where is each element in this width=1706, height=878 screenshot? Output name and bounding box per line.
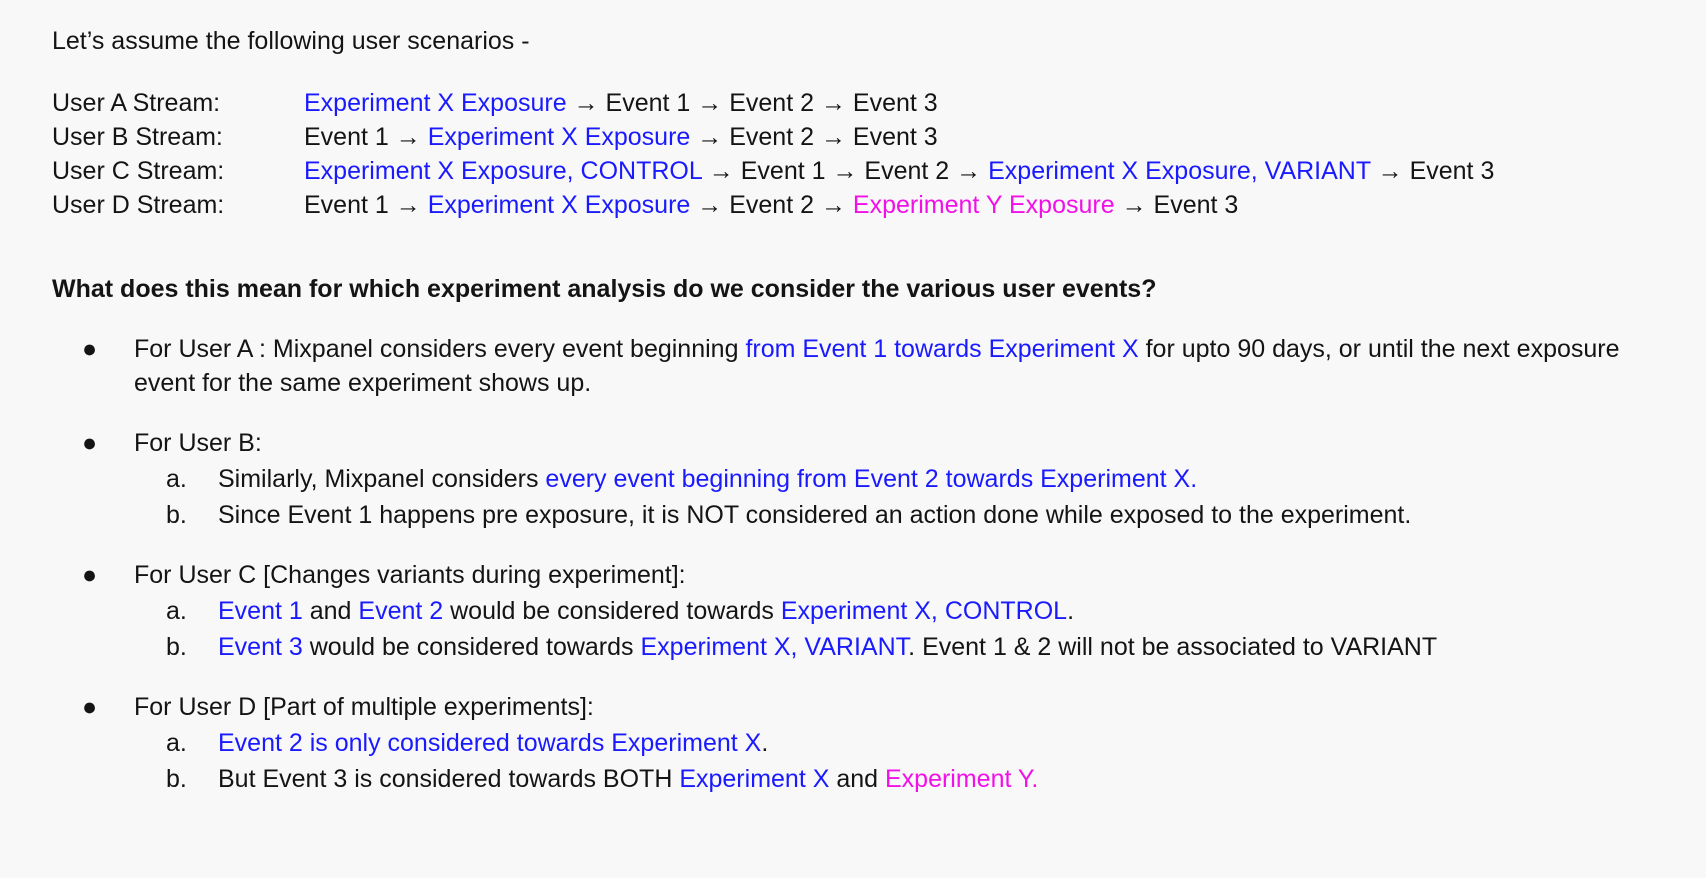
- stream-2-segment-0: Experiment X Exposure, CONTROL: [304, 157, 702, 185]
- stream-0-segment-6: Event 3: [853, 89, 938, 117]
- user-stream-flow: Experiment X Exposure, CONTROL → Event 1…: [304, 154, 1494, 188]
- bullet-0-segment-0: For User A : Mixpanel considers every ev…: [134, 335, 745, 363]
- bullet-3-segment-0: For User D [Part of multiple experiments…: [134, 693, 594, 721]
- question-heading: What does this mean for which experiment…: [52, 272, 1156, 306]
- sub-list-text: Event 1 and Event 2 would be considered …: [218, 594, 1672, 628]
- bullet-text: For User B:: [134, 426, 1672, 460]
- bullet-2-sub-1-segment-0: Event 3: [218, 633, 303, 661]
- bullet-2-sub-0-segment-4: Experiment X, CONTROL: [781, 597, 1067, 625]
- sub-list: a.Similarly, Mixpanel considers every ev…: [134, 462, 1672, 532]
- sub-list-text: Similarly, Mixpanel considers every even…: [218, 462, 1672, 496]
- user-stream-flow: Experiment X Exposure → Event 1 → Event …: [304, 86, 938, 120]
- bullet-2-sub-0-segment-0: Event 1: [218, 597, 303, 625]
- bullet-1-sub-1-segment-0: Since Event 1 happens pre exposure, it i…: [218, 501, 1411, 529]
- stream-2-segment-1: →: [702, 157, 741, 185]
- bullet-2-segment-0: For User C [Changes variants during expe…: [134, 561, 686, 589]
- stream-0-segment-5: →: [814, 89, 853, 117]
- stream-2-segment-8: Event 3: [1410, 157, 1495, 185]
- stream-1-segment-0: Event 1: [304, 123, 389, 151]
- bullet-3-sub-0-segment-0: Event 2 is only considered towards Exper…: [218, 729, 761, 757]
- sub-list: a.Event 1 and Event 2 would be considere…: [134, 594, 1672, 664]
- bullet-3-sub-1-segment-3: Experiment Y.: [885, 765, 1038, 793]
- stream-3-segment-8: Event 3: [1154, 191, 1239, 219]
- stream-3-segment-0: Event 1: [304, 191, 389, 219]
- bullet-2-sub-1-segment-3: . Event 1 & 2 will not be associated to …: [908, 633, 1437, 661]
- stream-0-segment-1: →: [567, 89, 606, 117]
- stream-1-segment-3: →: [690, 123, 729, 151]
- stream-1-segment-5: →: [814, 123, 853, 151]
- stream-3-segment-3: →: [690, 191, 729, 219]
- sub-list-text: Event 2 is only considered towards Exper…: [218, 726, 1672, 760]
- stream-3-segment-7: →: [1115, 191, 1154, 219]
- bullet-2-sub-0-segment-2: Event 2: [358, 597, 443, 625]
- sub-list-text: Event 3 would be considered towards Expe…: [218, 630, 1672, 664]
- bullet-list: ●For User A : Mixpanel considers every e…: [52, 332, 1672, 796]
- stream-0-segment-4: Event 2: [729, 89, 814, 117]
- user-stream-label: User D Stream:: [52, 188, 304, 222]
- bullet-text: For User C [Changes variants during expe…: [134, 558, 1672, 592]
- stream-1-segment-4: Event 2: [729, 123, 814, 151]
- sub-list-marker: b.: [134, 630, 218, 664]
- user-stream-label: User A Stream:: [52, 86, 304, 120]
- user-stream-row: User B Stream:Event 1 → Experiment X Exp…: [52, 120, 1494, 154]
- stream-2-segment-2: Event 1: [741, 157, 826, 185]
- stream-2-segment-5: →: [949, 157, 988, 185]
- bullet-1-sub-0-segment-0: Similarly, Mixpanel considers: [218, 465, 545, 493]
- stream-0-segment-2: Event 1: [606, 89, 691, 117]
- sub-list-marker: b.: [134, 762, 218, 796]
- stream-3-segment-1: →: [389, 191, 428, 219]
- stream-1-segment-2: Experiment X Exposure: [428, 123, 691, 151]
- list-item: ●For User D [Part of multiple experiment…: [52, 690, 1672, 724]
- sub-list-text: Since Event 1 happens pre exposure, it i…: [218, 498, 1672, 532]
- sub-list: a.Event 2 is only considered towards Exp…: [134, 726, 1672, 796]
- user-stream-row: User C Stream:Experiment X Exposure, CON…: [52, 154, 1494, 188]
- stream-2-segment-7: →: [1371, 157, 1410, 185]
- bullet-3-sub-0-segment-1: .: [761, 729, 768, 757]
- sub-list-item: b.Event 3 would be considered towards Ex…: [134, 630, 1672, 664]
- sub-list-item: a.Event 2 is only considered towards Exp…: [134, 726, 1672, 760]
- bullet-block: ●For User B:a.Similarly, Mixpanel consid…: [52, 426, 1672, 532]
- bullet-marker-icon: ●: [52, 426, 134, 460]
- sub-list-marker: b.: [134, 498, 218, 532]
- bullet-3-sub-1-segment-2: and: [829, 765, 885, 793]
- intro-line: Let’s assume the following user scenario…: [52, 24, 530, 58]
- stream-1-segment-1: →: [389, 123, 428, 151]
- sub-list-item: a.Event 1 and Event 2 would be considere…: [134, 594, 1672, 628]
- bullet-3-sub-1-segment-0: But Event 3 is considered towards BOTH: [218, 765, 679, 793]
- bullet-marker-icon: ●: [52, 332, 134, 366]
- stream-2-segment-6: Experiment X Exposure, VARIANT: [988, 157, 1371, 185]
- bullet-2-sub-1-segment-1: would be considered towards: [303, 633, 641, 661]
- bullet-2-sub-0-segment-3: would be considered towards: [443, 597, 781, 625]
- user-stream-label: User B Stream:: [52, 120, 304, 154]
- user-stream-row: User D Stream:Event 1 → Experiment X Exp…: [52, 188, 1494, 222]
- bullet-1-segment-0: For User B:: [134, 429, 262, 457]
- user-stream-row: User A Stream:Experiment X Exposure → Ev…: [52, 86, 1494, 120]
- bullet-2-sub-1-segment-2: Experiment X, VARIANT: [640, 633, 908, 661]
- user-stream-list: User A Stream:Experiment X Exposure → Ev…: [52, 86, 1494, 222]
- bullet-2-sub-0-segment-5: .: [1067, 597, 1074, 625]
- bullet-text: For User D [Part of multiple experiments…: [134, 690, 1672, 724]
- stream-0-segment-3: →: [690, 89, 729, 117]
- stream-2-segment-4: Event 2: [864, 157, 949, 185]
- bullet-2-sub-0-segment-1: and: [303, 597, 359, 625]
- list-item: ●For User C [Changes variants during exp…: [52, 558, 1672, 592]
- document-page: Let’s assume the following user scenario…: [0, 0, 1706, 878]
- bullet-block: ●For User A : Mixpanel considers every e…: [52, 332, 1672, 400]
- stream-2-segment-3: →: [826, 157, 865, 185]
- sub-list-marker: a.: [134, 726, 218, 760]
- sub-list-item: b.Since Event 1 happens pre exposure, it…: [134, 498, 1672, 532]
- bullet-block: ●For User D [Part of multiple experiment…: [52, 690, 1672, 796]
- stream-3-segment-4: Event 2: [729, 191, 814, 219]
- stream-0-segment-0: Experiment X Exposure: [304, 89, 567, 117]
- bullet-3-sub-1-segment-1: Experiment X: [679, 765, 829, 793]
- stream-1-segment-6: Event 3: [853, 123, 938, 151]
- sub-list-text: But Event 3 is considered towards BOTH E…: [218, 762, 1672, 796]
- bullet-1-sub-0-segment-1: every event beginning from Event 2 towar…: [545, 465, 1197, 493]
- list-item: ●For User B:: [52, 426, 1672, 460]
- bullet-0-segment-1: from Event 1 towards Experiment X: [745, 335, 1138, 363]
- sub-list-marker: a.: [134, 594, 218, 628]
- sub-list-item: a.Similarly, Mixpanel considers every ev…: [134, 462, 1672, 496]
- user-stream-flow: Event 1 → Experiment X Exposure → Event …: [304, 120, 938, 154]
- bullet-marker-icon: ●: [52, 558, 134, 592]
- list-item: ●For User A : Mixpanel considers every e…: [52, 332, 1672, 400]
- bullet-text: For User A : Mixpanel considers every ev…: [134, 332, 1672, 400]
- sub-list-marker: a.: [134, 462, 218, 496]
- stream-3-segment-5: →: [814, 191, 853, 219]
- user-stream-flow: Event 1 → Experiment X Exposure → Event …: [304, 188, 1238, 222]
- stream-3-segment-2: Experiment X Exposure: [428, 191, 691, 219]
- stream-3-segment-6: Experiment Y Exposure: [853, 191, 1115, 219]
- sub-list-item: b.But Event 3 is considered towards BOTH…: [134, 762, 1672, 796]
- bullet-block: ●For User C [Changes variants during exp…: [52, 558, 1672, 664]
- bullet-marker-icon: ●: [52, 690, 134, 724]
- user-stream-label: User C Stream:: [52, 154, 304, 188]
